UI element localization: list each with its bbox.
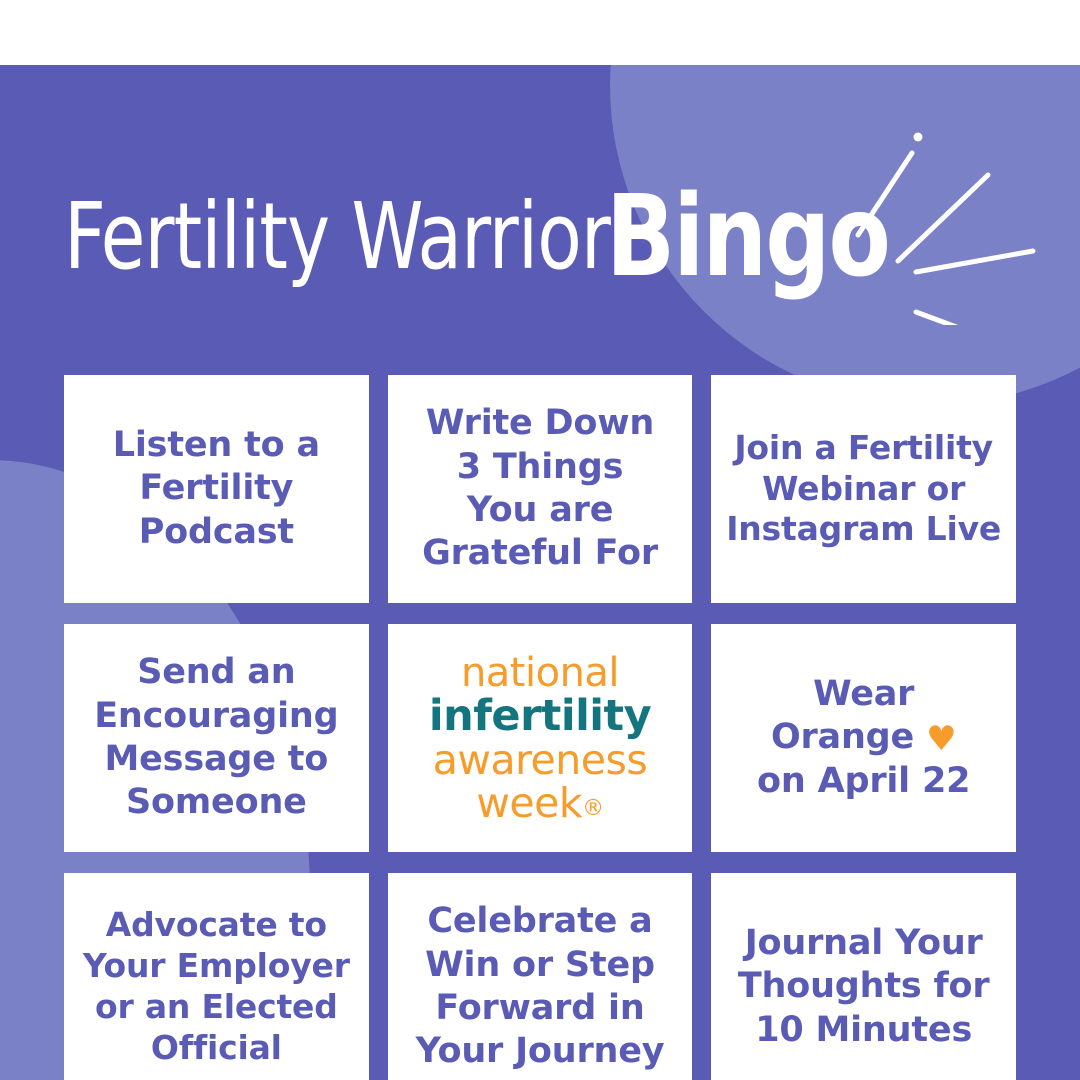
bingo-cell-2-text: Write Down 3 Things You are Grateful For [422,402,658,576]
poster-canvas: Fertility Warrior Bingo Listen to a Fert… [0,0,1080,1080]
niaw-logo: national infertility awareness week® [429,653,651,824]
bingo-cell-7[interactable]: Advocate to Your Employer or an Elected … [64,873,369,1080]
title-part-light: Fertility Warrior [64,191,610,283]
orange-heart-icon: ♥ [926,719,956,759]
bingo-cell-7-text: Advocate to Your Employer or an Elected … [83,905,350,1069]
bingo-cell-3-text: Join a Fertility Webinar or Instagram Li… [726,428,1001,551]
bingo-cell-9[interactable]: Journal Your Thoughts for 10 Minutes [711,873,1016,1080]
bingo-cell-6[interactable]: Wear Orange ♥ on April 22 [711,624,1016,852]
bingo-grid: Listen to a Fertility Podcast Write Down… [64,375,1016,1080]
bingo-cell-6-text-after: on April 22 [757,761,970,801]
bingo-cell-1[interactable]: Listen to a Fertility Podcast [64,375,369,603]
bingo-cell-8[interactable]: Celebrate a Win or Step Forward in Your … [388,873,693,1080]
bingo-cell-4-text: Send an Encouraging Message to Someone [94,651,338,825]
registered-mark-icon: ® [582,796,604,821]
bingo-cell-1-text: Listen to a Fertility Podcast [113,424,320,554]
bingo-cell-4[interactable]: Send an Encouraging Message to Someone [64,624,369,852]
bingo-cell-9-text: Journal Your Thoughts for 10 Minutes [738,922,990,1052]
bingo-cell-5-niaw-logo[interactable]: national infertility awareness week® [388,624,693,852]
bingo-cell-3[interactable]: Join a Fertility Webinar or Instagram Li… [711,375,1016,603]
niaw-logo-line-week: week® [476,783,603,824]
page-title: Fertility Warrior Bingo [64,167,1016,307]
bingo-cell-2[interactable]: Write Down 3 Things You are Grateful For [388,375,693,603]
niaw-logo-line-infertility: infertility [429,695,651,738]
purple-panel: Fertility Warrior Bingo Listen to a Fert… [0,65,1080,1080]
bingo-cell-8-text: Celebrate a Win or Step Forward in Your … [416,900,665,1074]
niaw-logo-week-word: week [476,779,582,827]
bingo-cell-6-text-before: Wear Orange [771,674,926,757]
title-part-bold: Bingo [606,181,889,293]
bingo-cell-6-text: Wear Orange ♥ on April 22 [757,673,970,804]
niaw-logo-line-national: national [461,653,619,693]
niaw-logo-line-awareness: awareness [433,740,647,781]
